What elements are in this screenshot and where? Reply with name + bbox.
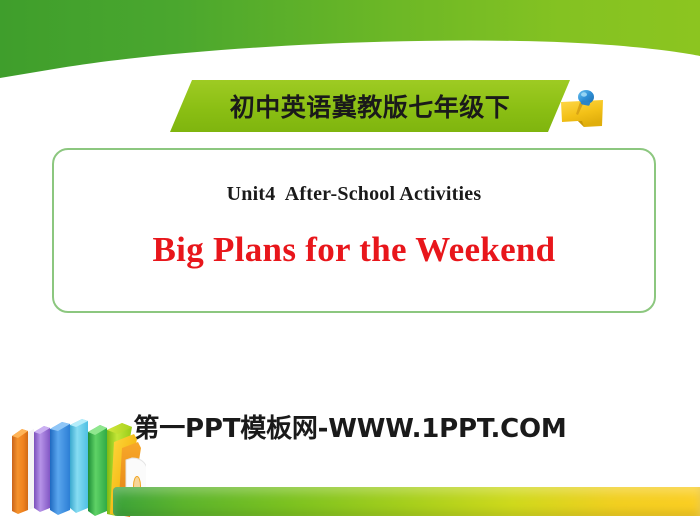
sticky-note-icon — [556, 88, 608, 132]
top-green-curve-band — [0, 0, 700, 80]
book-pages-1 — [28, 429, 34, 510]
book-orange — [12, 429, 28, 514]
book-purple — [34, 426, 50, 512]
subject-banner: 初中英语冀教版七年级下 — [170, 80, 570, 132]
page-title: Big Plans for the Weekend — [54, 230, 654, 270]
book-green — [88, 425, 107, 516]
book-blue — [50, 422, 70, 515]
title-content-box: Unit4 After-School Activities Big Plans … — [52, 148, 656, 313]
pushpin-highlight — [581, 92, 587, 96]
subject-banner-label: 初中英语冀教版七年级下 — [170, 80, 570, 132]
book-cyan — [70, 419, 88, 513]
presentation-slide: 初中英语冀教版七年级下 — [0, 0, 700, 525]
top-curve-shape — [0, 0, 700, 78]
bottom-gradient-bar — [113, 487, 700, 516]
unit-subtitle: Unit4 After-School Activities — [54, 183, 654, 206]
